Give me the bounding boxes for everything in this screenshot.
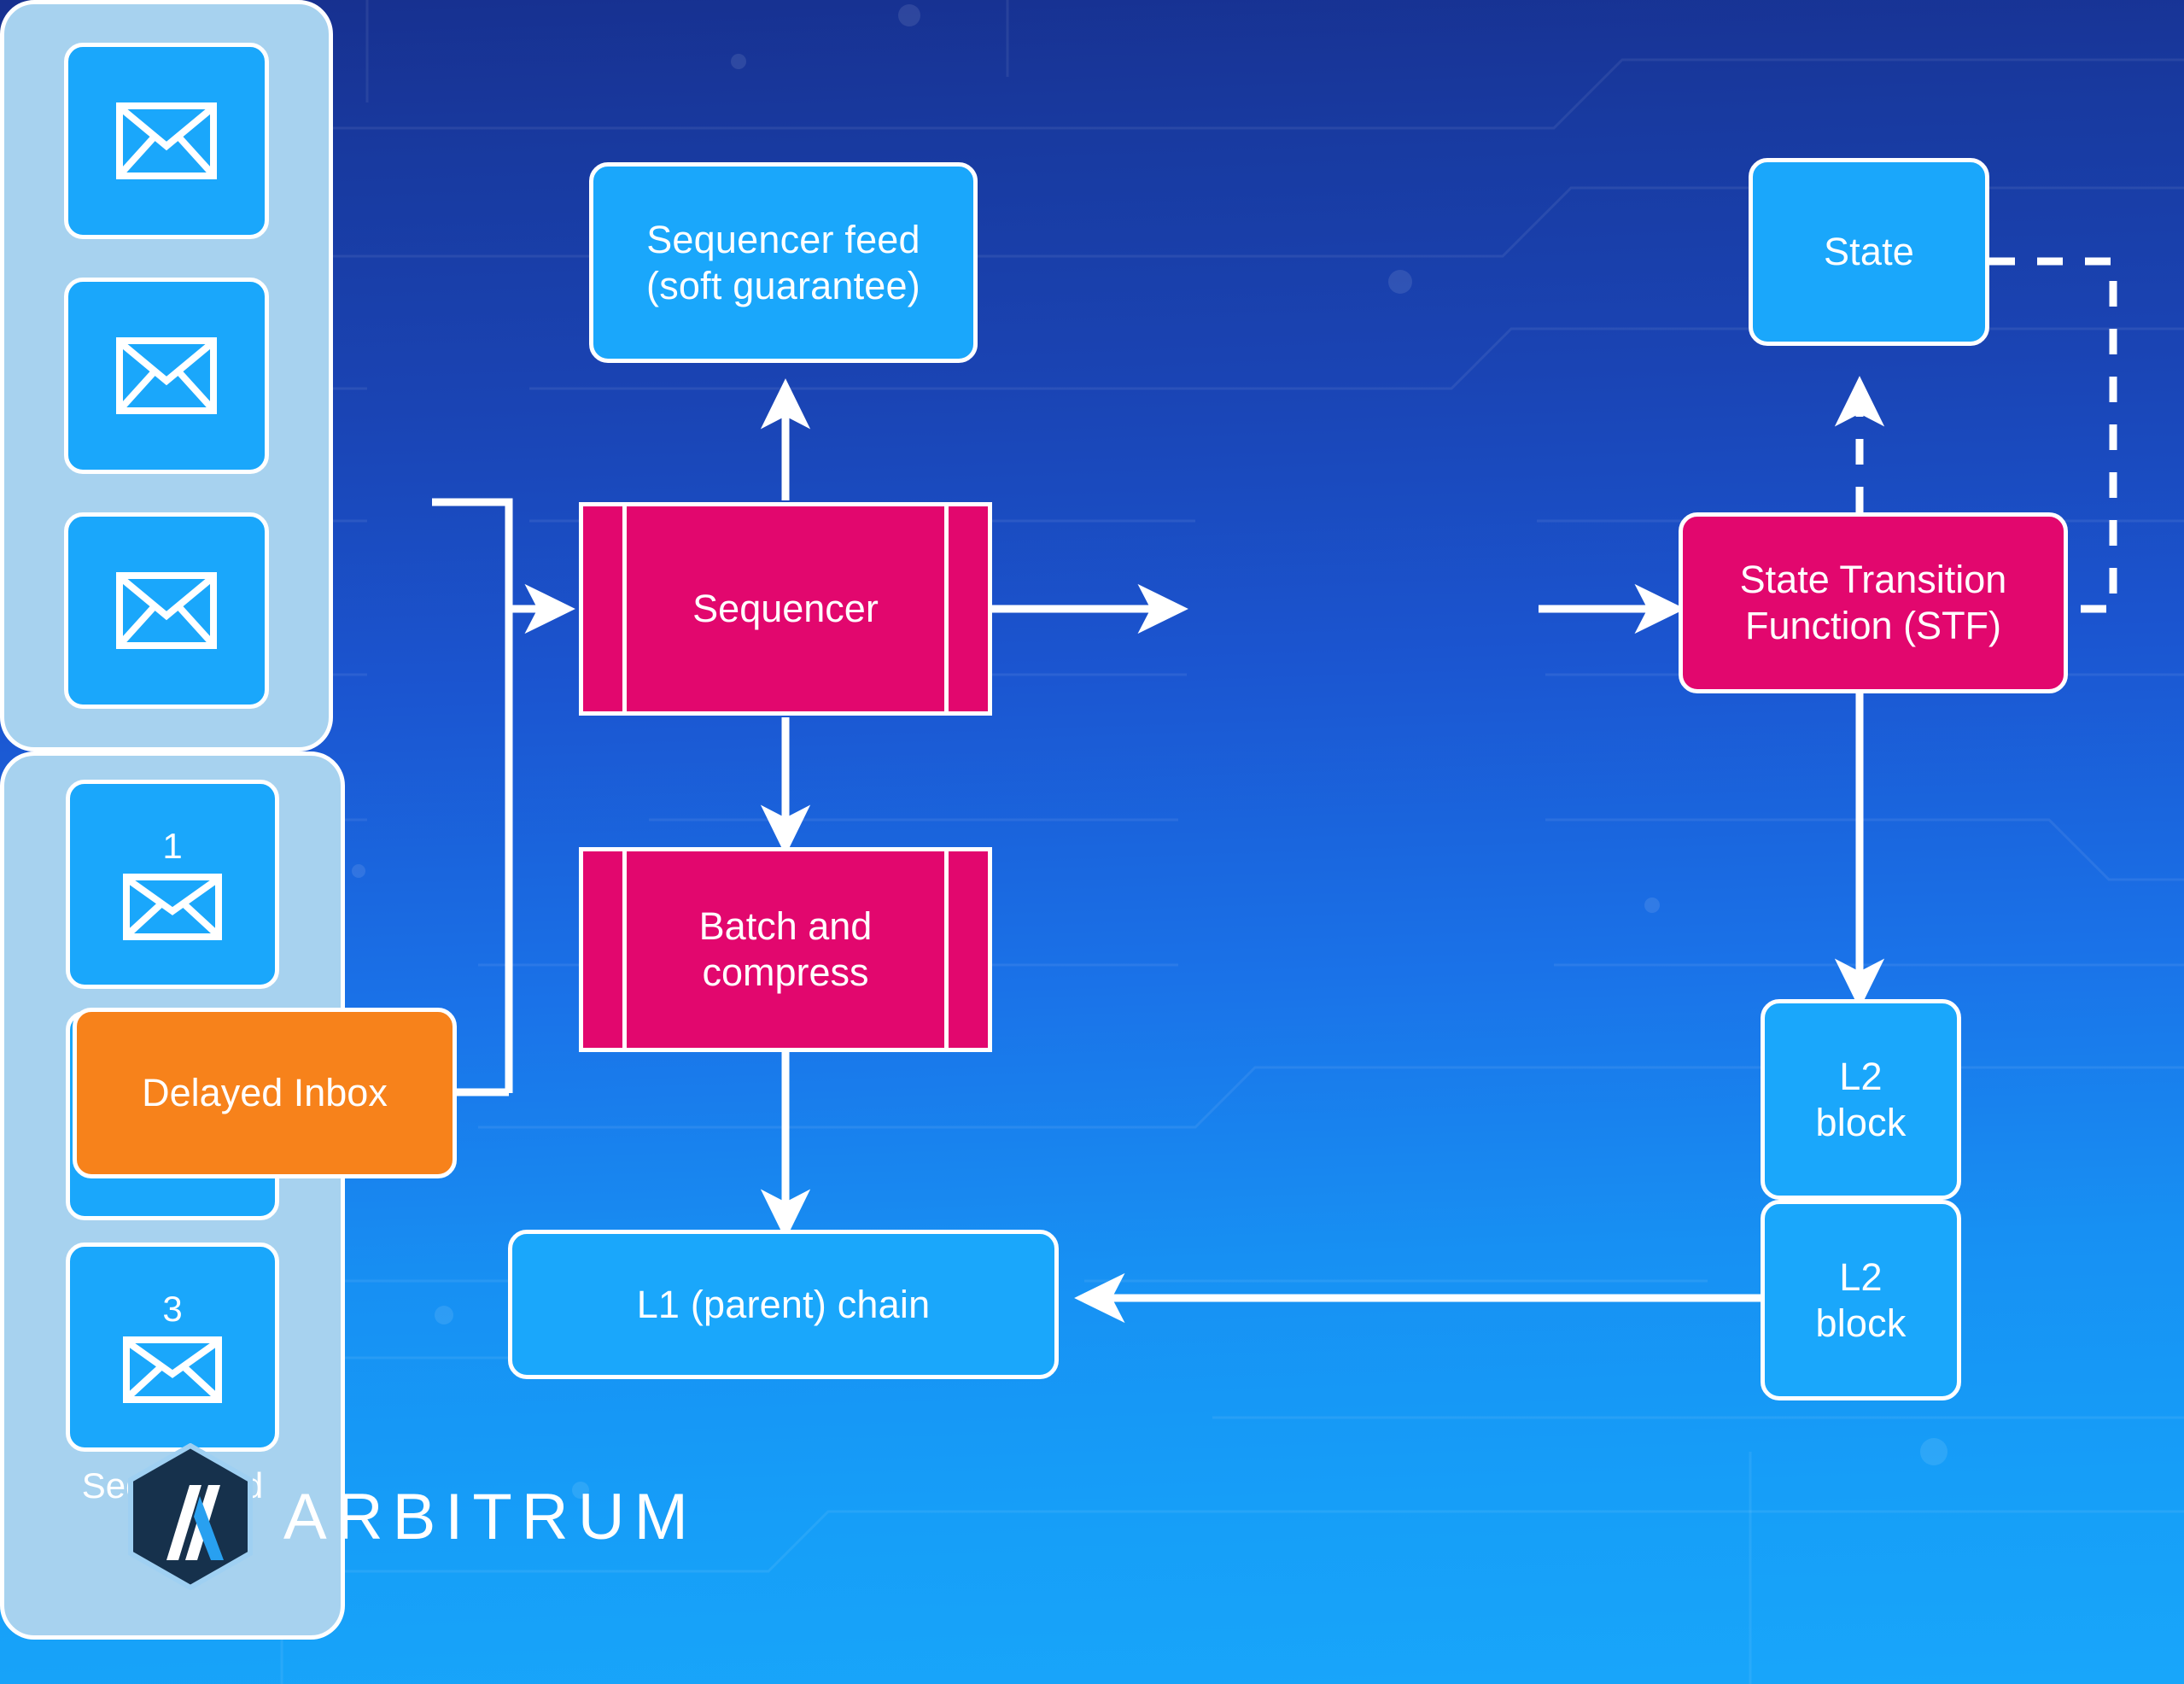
stf-node[interactable]: State Transition Function (STF) <box>1679 512 2068 693</box>
state-node[interactable]: State <box>1749 158 1989 346</box>
l1-parent-chain-node[interactable]: L1 (parent) chain <box>508 1230 1059 1379</box>
sequencer-feed-line2: (soft guarantee) <box>646 263 920 308</box>
envelope-icon <box>115 336 218 415</box>
inbox-tray <box>0 0 333 751</box>
envelope-icon <box>122 873 223 941</box>
inbox-message-tile[interactable] <box>64 43 269 239</box>
batch-line2: compress <box>702 950 868 996</box>
l2-block-line1: L2 <box>1839 1254 1882 1300</box>
sequenced-tx-number: 1 <box>162 828 182 864</box>
arbitrum-logo: ARBITRUM <box>126 1443 698 1590</box>
sequenced-tx-tile[interactable]: 1 <box>66 780 279 989</box>
state-label: State <box>1824 229 1914 274</box>
arbitrum-logo-icon <box>126 1443 254 1590</box>
sequencer-node[interactable]: Sequencer <box>579 502 992 716</box>
inbox-message-tile[interactable] <box>64 512 269 709</box>
envelope-icon <box>115 571 218 650</box>
sequencer-label: Sequencer <box>692 586 879 632</box>
envelope-icon <box>115 102 218 180</box>
sequenced-tx-tile[interactable]: 3 <box>66 1243 279 1452</box>
l2-block-line2: block <box>1815 1100 1906 1145</box>
envelope-icon <box>122 1336 223 1404</box>
delayed-inbox-label: Delayed Inbox <box>142 1071 388 1115</box>
arbitrum-wordmark: ARBITRUM <box>283 1480 698 1554</box>
delayed-inbox-node[interactable]: Delayed Inbox <box>73 1008 457 1178</box>
l2-block-line2: block <box>1815 1301 1906 1346</box>
batch-line1: Batch and <box>699 903 873 950</box>
stf-line1: State Transition <box>1740 557 2007 603</box>
sequencer-feed-node[interactable]: Sequencer feed (soft guarantee) <box>589 162 978 363</box>
l2-block-node[interactable]: L2 block <box>1761 999 1961 1200</box>
batch-and-compress-node[interactable]: Batch and compress <box>579 847 992 1052</box>
l1-chain-label: L1 (parent) chain <box>637 1282 931 1327</box>
l2-block-node[interactable]: L2 block <box>1761 1200 1961 1400</box>
stf-line2: Function (STF) <box>1745 603 2001 649</box>
l2-block-line1: L2 <box>1839 1054 1882 1099</box>
sequencer-feed-line1: Sequencer feed <box>646 217 920 262</box>
inbox-message-tile[interactable] <box>64 278 269 474</box>
sequenced-tx-number: 3 <box>162 1291 182 1327</box>
